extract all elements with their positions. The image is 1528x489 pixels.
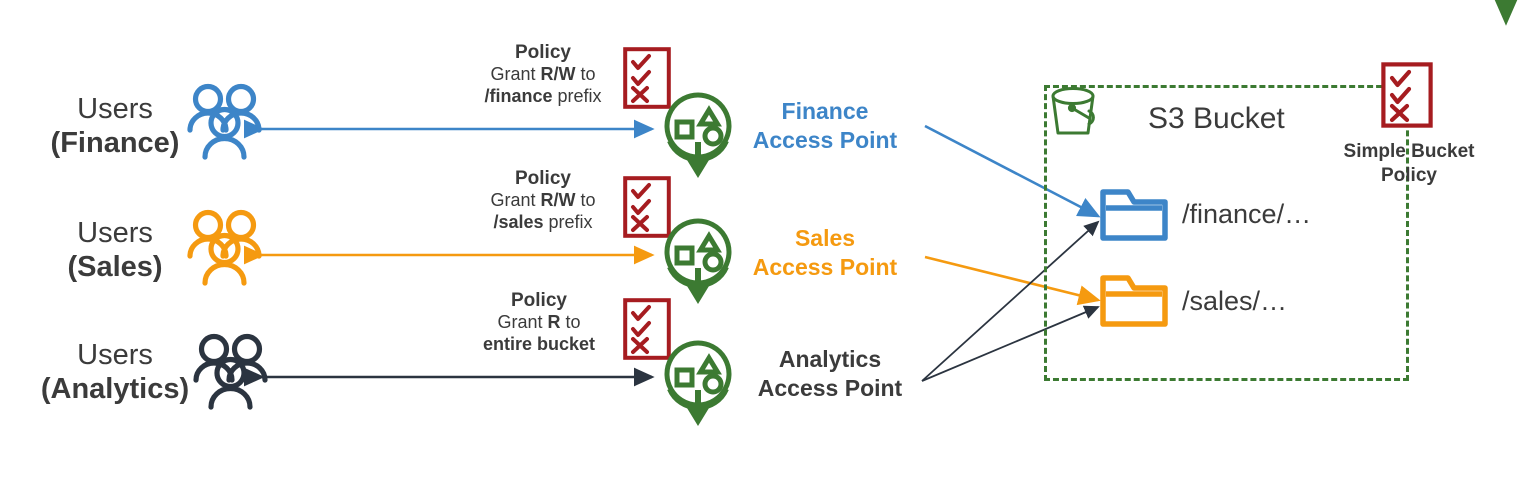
- diagram-canvas: Users (Finance) Users (Sales) Users (Ana…: [0, 0, 1528, 489]
- finance-ap-line2: Access Point: [753, 127, 897, 153]
- analytics-policy-title: Policy: [460, 290, 618, 312]
- sales-policy-label: Policy Grant R/W to /sales prefix: [468, 168, 618, 233]
- policy-checklist-icon-bucket: [1381, 62, 1433, 128]
- sales-policy-line2: Grant R/W to: [490, 190, 595, 210]
- users-analytics-line1: Users: [77, 339, 153, 371]
- clipped-green-mark-icon: [1486, 0, 1528, 32]
- analytics-policy-line2: Grant R to: [497, 312, 580, 332]
- simple-bucket-policy-line1: Simple Bucket: [1344, 141, 1475, 162]
- finance-policy-line2: Grant R/W to: [490, 64, 595, 84]
- access-point-icon-sales: [657, 214, 739, 306]
- users-group-icon-sales: [186, 208, 264, 296]
- access-point-icon-finance: [657, 88, 739, 180]
- analytics-access-point-label: Analytics Access Point: [740, 345, 920, 404]
- analytics-ap-line1: Analytics: [779, 346, 881, 372]
- users-finance-label: Users (Finance): [50, 92, 180, 160]
- users-sales-line1: Users: [77, 217, 153, 249]
- access-point-icon-analytics: [657, 336, 739, 428]
- users-sales-line2: (Sales): [50, 250, 180, 284]
- users-analytics-label: Users (Analytics): [36, 338, 194, 406]
- s3-bucket-icon: [1042, 78, 1104, 140]
- sales-prefix-label: /sales/…: [1182, 286, 1287, 318]
- finance-policy-line3: /finance prefix: [484, 86, 601, 106]
- folder-icon-sales: [1100, 272, 1168, 328]
- analytics-ap-line2: Access Point: [758, 375, 902, 401]
- sales-access-point-label: Sales Access Point: [740, 224, 910, 283]
- finance-prefix-label: /finance/…: [1182, 199, 1311, 231]
- finance-ap-line1: Finance: [782, 98, 869, 124]
- analytics-policy-line3: entire bucket: [483, 334, 595, 354]
- folder-icon-finance: [1100, 186, 1168, 242]
- users-analytics-line2: (Analytics): [36, 372, 194, 406]
- finance-access-point-label: Finance Access Point: [740, 97, 910, 156]
- users-sales-label: Users (Sales): [50, 216, 180, 284]
- users-group-icon-finance: [186, 82, 264, 170]
- finance-policy-label: Policy Grant R/W to /finance prefix: [468, 42, 618, 107]
- sales-policy-line3: /sales prefix: [493, 212, 592, 232]
- users-finance-line2: (Finance): [50, 126, 180, 160]
- simple-bucket-policy-label: Simple Bucket Policy: [1320, 140, 1498, 188]
- s3-bucket-title: S3 Bucket: [1148, 101, 1285, 136]
- users-finance-line1: Users: [77, 93, 153, 125]
- analytics-policy-label: Policy Grant R to entire bucket: [460, 290, 618, 355]
- sales-ap-line2: Access Point: [753, 254, 897, 280]
- sales-ap-line1: Sales: [795, 225, 855, 251]
- users-group-icon-analytics: [192, 332, 270, 420]
- finance-policy-title: Policy: [468, 42, 618, 64]
- sales-policy-title: Policy: [468, 168, 618, 190]
- simple-bucket-policy-line2: Policy: [1381, 165, 1437, 186]
